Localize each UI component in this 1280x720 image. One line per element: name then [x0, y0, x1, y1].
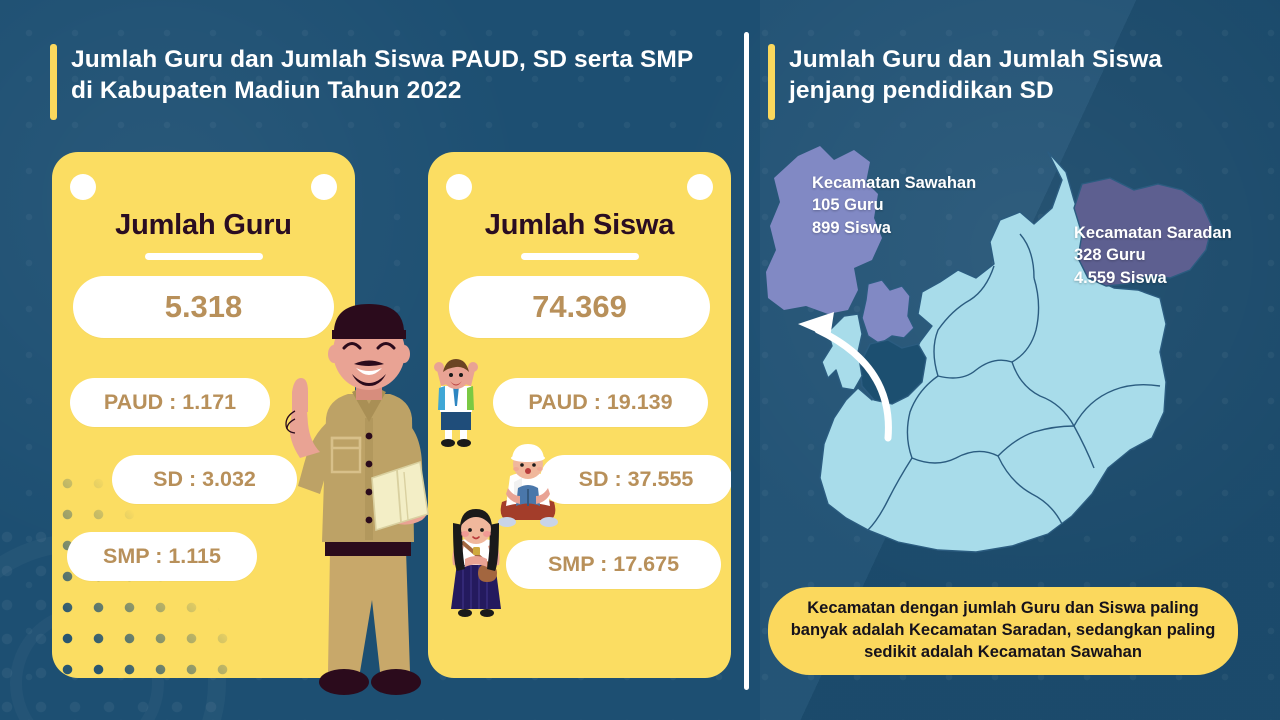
card-breakdown-smp: SMP : 17.675: [506, 540, 721, 589]
title-accent-bar: [768, 44, 775, 120]
map-annotation-sawahan-teachers: 105 Guru: [812, 194, 976, 216]
paud-student-illustration: [425, 358, 487, 448]
map-annotation-sawahan-students: 899 Siswa: [812, 217, 976, 239]
right-panel-title-text: Jumlah Guru dan Jumlah Siswa jenjang pen…: [789, 44, 1228, 107]
map-annotation-sawahan-district: Kecamatan Sawahan: [812, 172, 976, 194]
card-underline: [521, 253, 639, 260]
card-heading: Jumlah Guru: [52, 209, 355, 242]
map-region-sawahan-onmap: [862, 280, 914, 344]
smp-student-illustration: [443, 505, 509, 623]
card-hole-left-icon: [70, 174, 96, 200]
card-breakdown-smp: SMP : 1.115: [67, 532, 257, 581]
map-annotation-saradan: Kecamatan Saradan 328 Guru 4.559 Siswa: [1074, 222, 1232, 289]
card-heading: Jumlah Siswa: [428, 209, 731, 242]
card-hole-left-icon: [446, 174, 472, 200]
map-annotation-sawahan: Kecamatan Sawahan 105 Guru 899 Siswa: [812, 172, 976, 239]
card-breakdown-paud: PAUD : 1.171: [70, 378, 270, 427]
infographic-canvas: Jumlah Guru dan Jumlah Siswa PAUD, SD se…: [0, 0, 1280, 720]
map-annotation-saradan-teachers: 328 Guru: [1074, 244, 1232, 266]
summary-note-box: Kecamatan dengan jumlah Guru dan Siswa p…: [768, 587, 1238, 675]
map-annotation-saradan-students: 4.559 Siswa: [1074, 267, 1232, 289]
title-accent-bar: [50, 44, 57, 120]
left-panel-title: Jumlah Guru dan Jumlah Siswa PAUD, SD se…: [50, 44, 710, 120]
card-hole-right-icon: [687, 174, 713, 200]
right-panel-title: Jumlah Guru dan Jumlah Siswa jenjang pen…: [768, 44, 1228, 120]
left-panel-title-text: Jumlah Guru dan Jumlah Siswa PAUD, SD se…: [71, 44, 710, 107]
card-hole-right-icon: [311, 174, 337, 200]
map-callout-arrowhead: [798, 312, 834, 338]
card-underline: [145, 253, 263, 260]
panel-divider: [744, 32, 749, 690]
map-annotation-saradan-district: Kecamatan Saradan: [1074, 222, 1232, 244]
card-total-value: 74.369: [449, 276, 710, 338]
card-breakdown-sd: SD : 37.555: [540, 455, 731, 504]
summary-note-text: Kecamatan dengan jumlah Guru dan Siswa p…: [786, 598, 1220, 664]
card-breakdown-paud: PAUD : 19.139: [493, 378, 708, 427]
